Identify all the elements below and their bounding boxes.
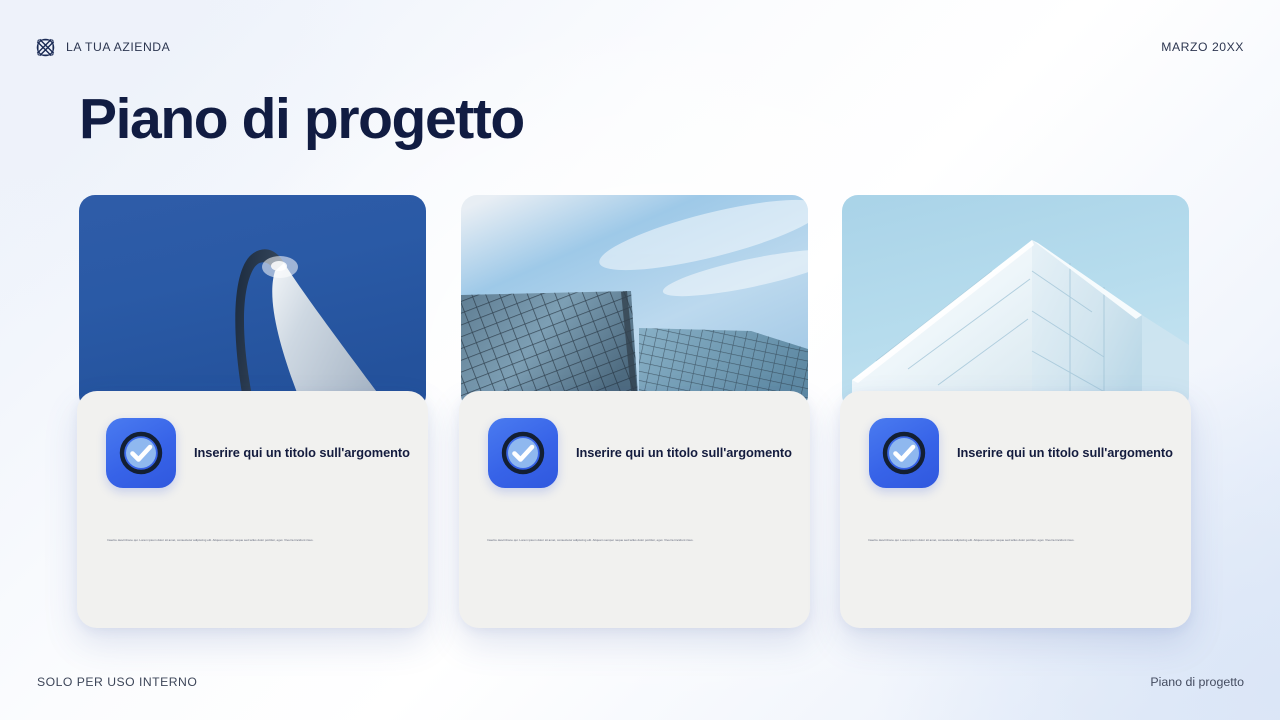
cards-container: Inserire qui un titolo sull'argomento In… bbox=[0, 195, 1280, 635]
slide-footer: SOLO PER USO INTERNO Piano di progetto bbox=[0, 644, 1280, 720]
card-info-panel: Inserire qui un titolo sull'argomento In… bbox=[840, 391, 1191, 628]
page-title: Piano di progetto bbox=[79, 90, 524, 148]
card[interactable]: Inserire qui un titolo sull'argomento In… bbox=[461, 195, 808, 635]
brand: LA TUA AZIENDA bbox=[34, 36, 170, 59]
header-date: MARZO 20XX bbox=[1161, 40, 1244, 54]
slide: LA TUA AZIENDA MARZO 20XX Piano di proge… bbox=[0, 0, 1280, 720]
card-header: Inserire qui un titolo sull'argomento bbox=[106, 418, 410, 488]
brand-name: LA TUA AZIENDA bbox=[66, 40, 170, 54]
interlaced-knot-logo-icon bbox=[34, 36, 57, 59]
footer-deck-name: Piano di progetto bbox=[1150, 675, 1244, 689]
card-photo-arch bbox=[79, 195, 426, 411]
card[interactable]: Inserire qui un titolo sull'argomento In… bbox=[79, 195, 426, 635]
card-header: Inserire qui un titolo sull'argomento bbox=[869, 418, 1173, 488]
card-body-text: Inserire descrizione qui. Lorem ipsum do… bbox=[487, 538, 782, 542]
card-photo-white-building bbox=[842, 195, 1189, 411]
card-header: Inserire qui un titolo sull'argomento bbox=[488, 418, 792, 488]
card-title: Inserire qui un titolo sull'argomento bbox=[576, 445, 792, 462]
card-body-text: Inserire descrizione qui. Lorem ipsum do… bbox=[868, 538, 1163, 542]
check-circle-icon bbox=[869, 418, 939, 488]
check-circle-icon bbox=[106, 418, 176, 488]
card[interactable]: Inserire qui un titolo sull'argomento In… bbox=[842, 195, 1189, 635]
card-info-panel: Inserire qui un titolo sull'argomento In… bbox=[77, 391, 428, 628]
card-body-text: Inserire descrizione qui. Lorem ipsum do… bbox=[107, 538, 402, 542]
slide-header: LA TUA AZIENDA MARZO 20XX bbox=[0, 0, 1280, 94]
card-title: Inserire qui un titolo sull'argomento bbox=[194, 445, 410, 462]
check-circle-icon bbox=[488, 418, 558, 488]
card-title: Inserire qui un titolo sull'argomento bbox=[957, 445, 1173, 462]
card-photo-skyscraper bbox=[461, 195, 808, 411]
footer-internal-use-label: SOLO PER USO INTERNO bbox=[37, 675, 197, 689]
card-info-panel: Inserire qui un titolo sull'argomento In… bbox=[459, 391, 810, 628]
